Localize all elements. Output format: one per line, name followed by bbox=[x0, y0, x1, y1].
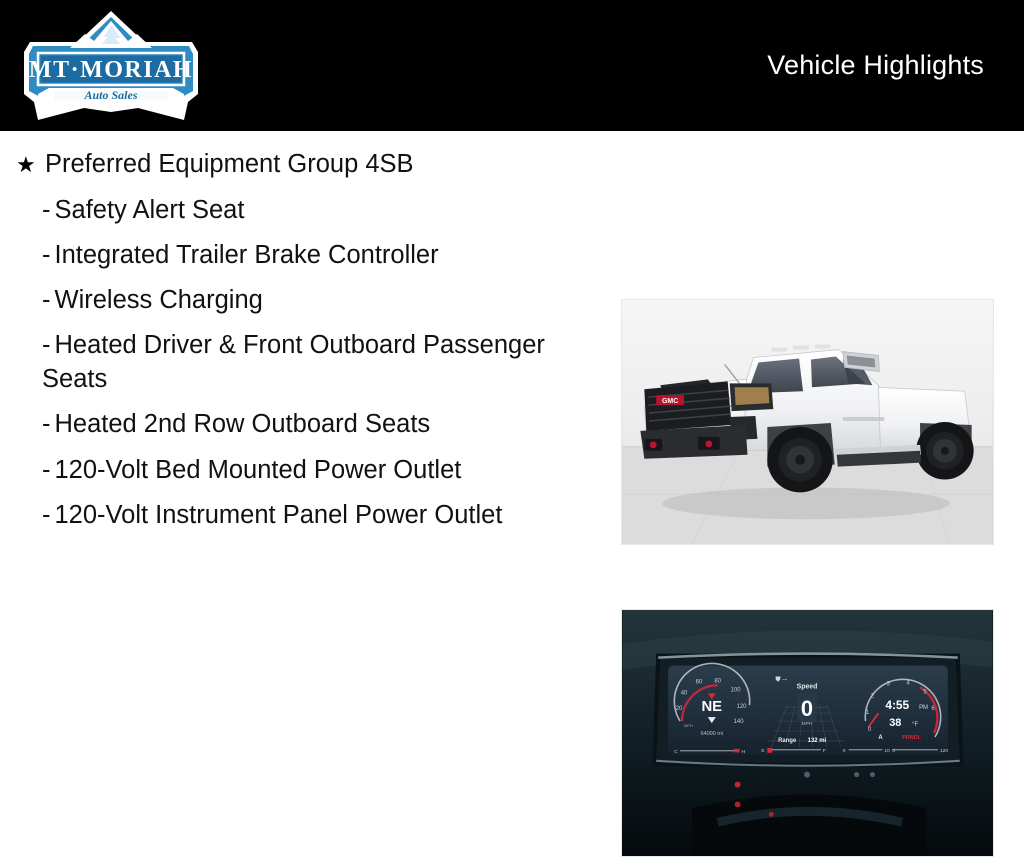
svg-text:MT·MORIAH: MT·MORIAH bbox=[29, 57, 193, 83]
page-title: Vehicle Highlights bbox=[767, 50, 984, 81]
svg-text:40: 40 bbox=[681, 690, 688, 696]
page-header: MT·MORIAH Auto Sales Vehicle Highlights bbox=[0, 0, 1024, 131]
list-item: -Wireless Charging bbox=[0, 283, 572, 317]
svg-text:60: 60 bbox=[696, 679, 703, 685]
list-item: -120-Volt Instrument Panel Power Outlet bbox=[0, 498, 572, 532]
svg-text:F: F bbox=[823, 748, 826, 754]
list-item-label: Wireless Charging bbox=[55, 286, 263, 314]
svg-text:C: C bbox=[674, 749, 678, 755]
list-item: -Heated Driver & Front Outboard Passenge… bbox=[0, 328, 572, 396]
svg-text:100: 100 bbox=[731, 687, 742, 693]
dash-bullet-icon: - bbox=[42, 196, 51, 224]
list-item-label: Preferred Equipment Group 4SB bbox=[0, 148, 600, 182]
mt-moriah-auto-sales-logo: MT·MORIAH Auto Sales bbox=[16, 8, 206, 124]
list-item: -Integrated Trailer Brake Controller bbox=[0, 238, 572, 272]
dash-bullet-icon: - bbox=[42, 286, 51, 314]
svg-text:132 mi: 132 mi bbox=[808, 738, 827, 744]
list-item: -Heated 2nd Row Outboard Seats bbox=[0, 407, 572, 441]
svg-text:64000 mi: 64000 mi bbox=[701, 731, 723, 737]
svg-text:20: 20 bbox=[676, 706, 683, 712]
svg-text:Range: Range bbox=[778, 738, 797, 744]
svg-text:0: 0 bbox=[801, 696, 813, 721]
list-item: -Safety Alert Seat bbox=[0, 193, 572, 227]
svg-text:NE: NE bbox=[701, 699, 722, 715]
list-item-label: Safety Alert Seat bbox=[55, 196, 245, 224]
dash-bullet-icon: - bbox=[42, 241, 51, 269]
svg-text:MPH: MPH bbox=[684, 723, 693, 728]
svg-text:80: 80 bbox=[714, 678, 721, 684]
svg-text:120: 120 bbox=[737, 704, 748, 710]
svg-text:4:55: 4:55 bbox=[885, 698, 909, 712]
vehicle-highlights-list: ★ Preferred Equipment Group 4SB -Safety … bbox=[0, 131, 600, 543]
svg-text:Speed: Speed bbox=[797, 683, 818, 690]
svg-text:10: 10 bbox=[884, 748, 890, 754]
svg-text:⛊ --: ⛊ -- bbox=[775, 676, 787, 683]
dash-bullet-icon: - bbox=[42, 331, 51, 359]
list-item-label: 120-Volt Bed Mounted Power Outlet bbox=[55, 456, 462, 484]
instrument-cluster-photo[interactable]: ⛊ -- 20 40 60 80 100 120 140 NE 64000 mi bbox=[621, 609, 994, 857]
list-item-label: Integrated Trailer Brake Controller bbox=[55, 241, 439, 269]
dash-bullet-icon: - bbox=[42, 501, 51, 529]
svg-text:MPH: MPH bbox=[802, 721, 813, 727]
svg-text:°F: °F bbox=[912, 722, 918, 728]
list-item-label: Heated 2nd Row Outboard Seats bbox=[55, 410, 431, 438]
svg-text:GMC: GMC bbox=[662, 398, 678, 405]
svg-text:Auto Sales: Auto Sales bbox=[83, 88, 137, 102]
svg-text:PM: PM bbox=[919, 705, 928, 711]
svg-text:H: H bbox=[742, 749, 746, 755]
svg-text:0: 0 bbox=[892, 748, 895, 754]
vehicle-exterior-photo[interactable]: GMC bbox=[621, 299, 994, 545]
svg-text:38: 38 bbox=[889, 717, 901, 729]
dash-bullet-icon: - bbox=[42, 410, 51, 438]
list-item-label: 120-Volt Instrument Panel Power Outlet bbox=[55, 501, 503, 529]
svg-text:A: A bbox=[878, 735, 883, 741]
svg-text:120: 120 bbox=[940, 748, 948, 754]
svg-text:140: 140 bbox=[734, 719, 745, 725]
list-item: -120-Volt Bed Mounted Power Outlet bbox=[0, 453, 572, 487]
svg-text:2: 2 bbox=[871, 693, 874, 699]
list-item: ★ Preferred Equipment Group 4SB bbox=[0, 148, 600, 182]
list-item-label: Heated Driver & Front Outboard Passenger… bbox=[42, 331, 545, 393]
svg-text:PRNDL: PRNDL bbox=[902, 735, 921, 741]
dash-bullet-icon: - bbox=[42, 456, 51, 484]
content-area: ★ Preferred Equipment Group 4SB -Safety … bbox=[0, 131, 1024, 768]
svg-text:0: 0 bbox=[843, 748, 846, 754]
